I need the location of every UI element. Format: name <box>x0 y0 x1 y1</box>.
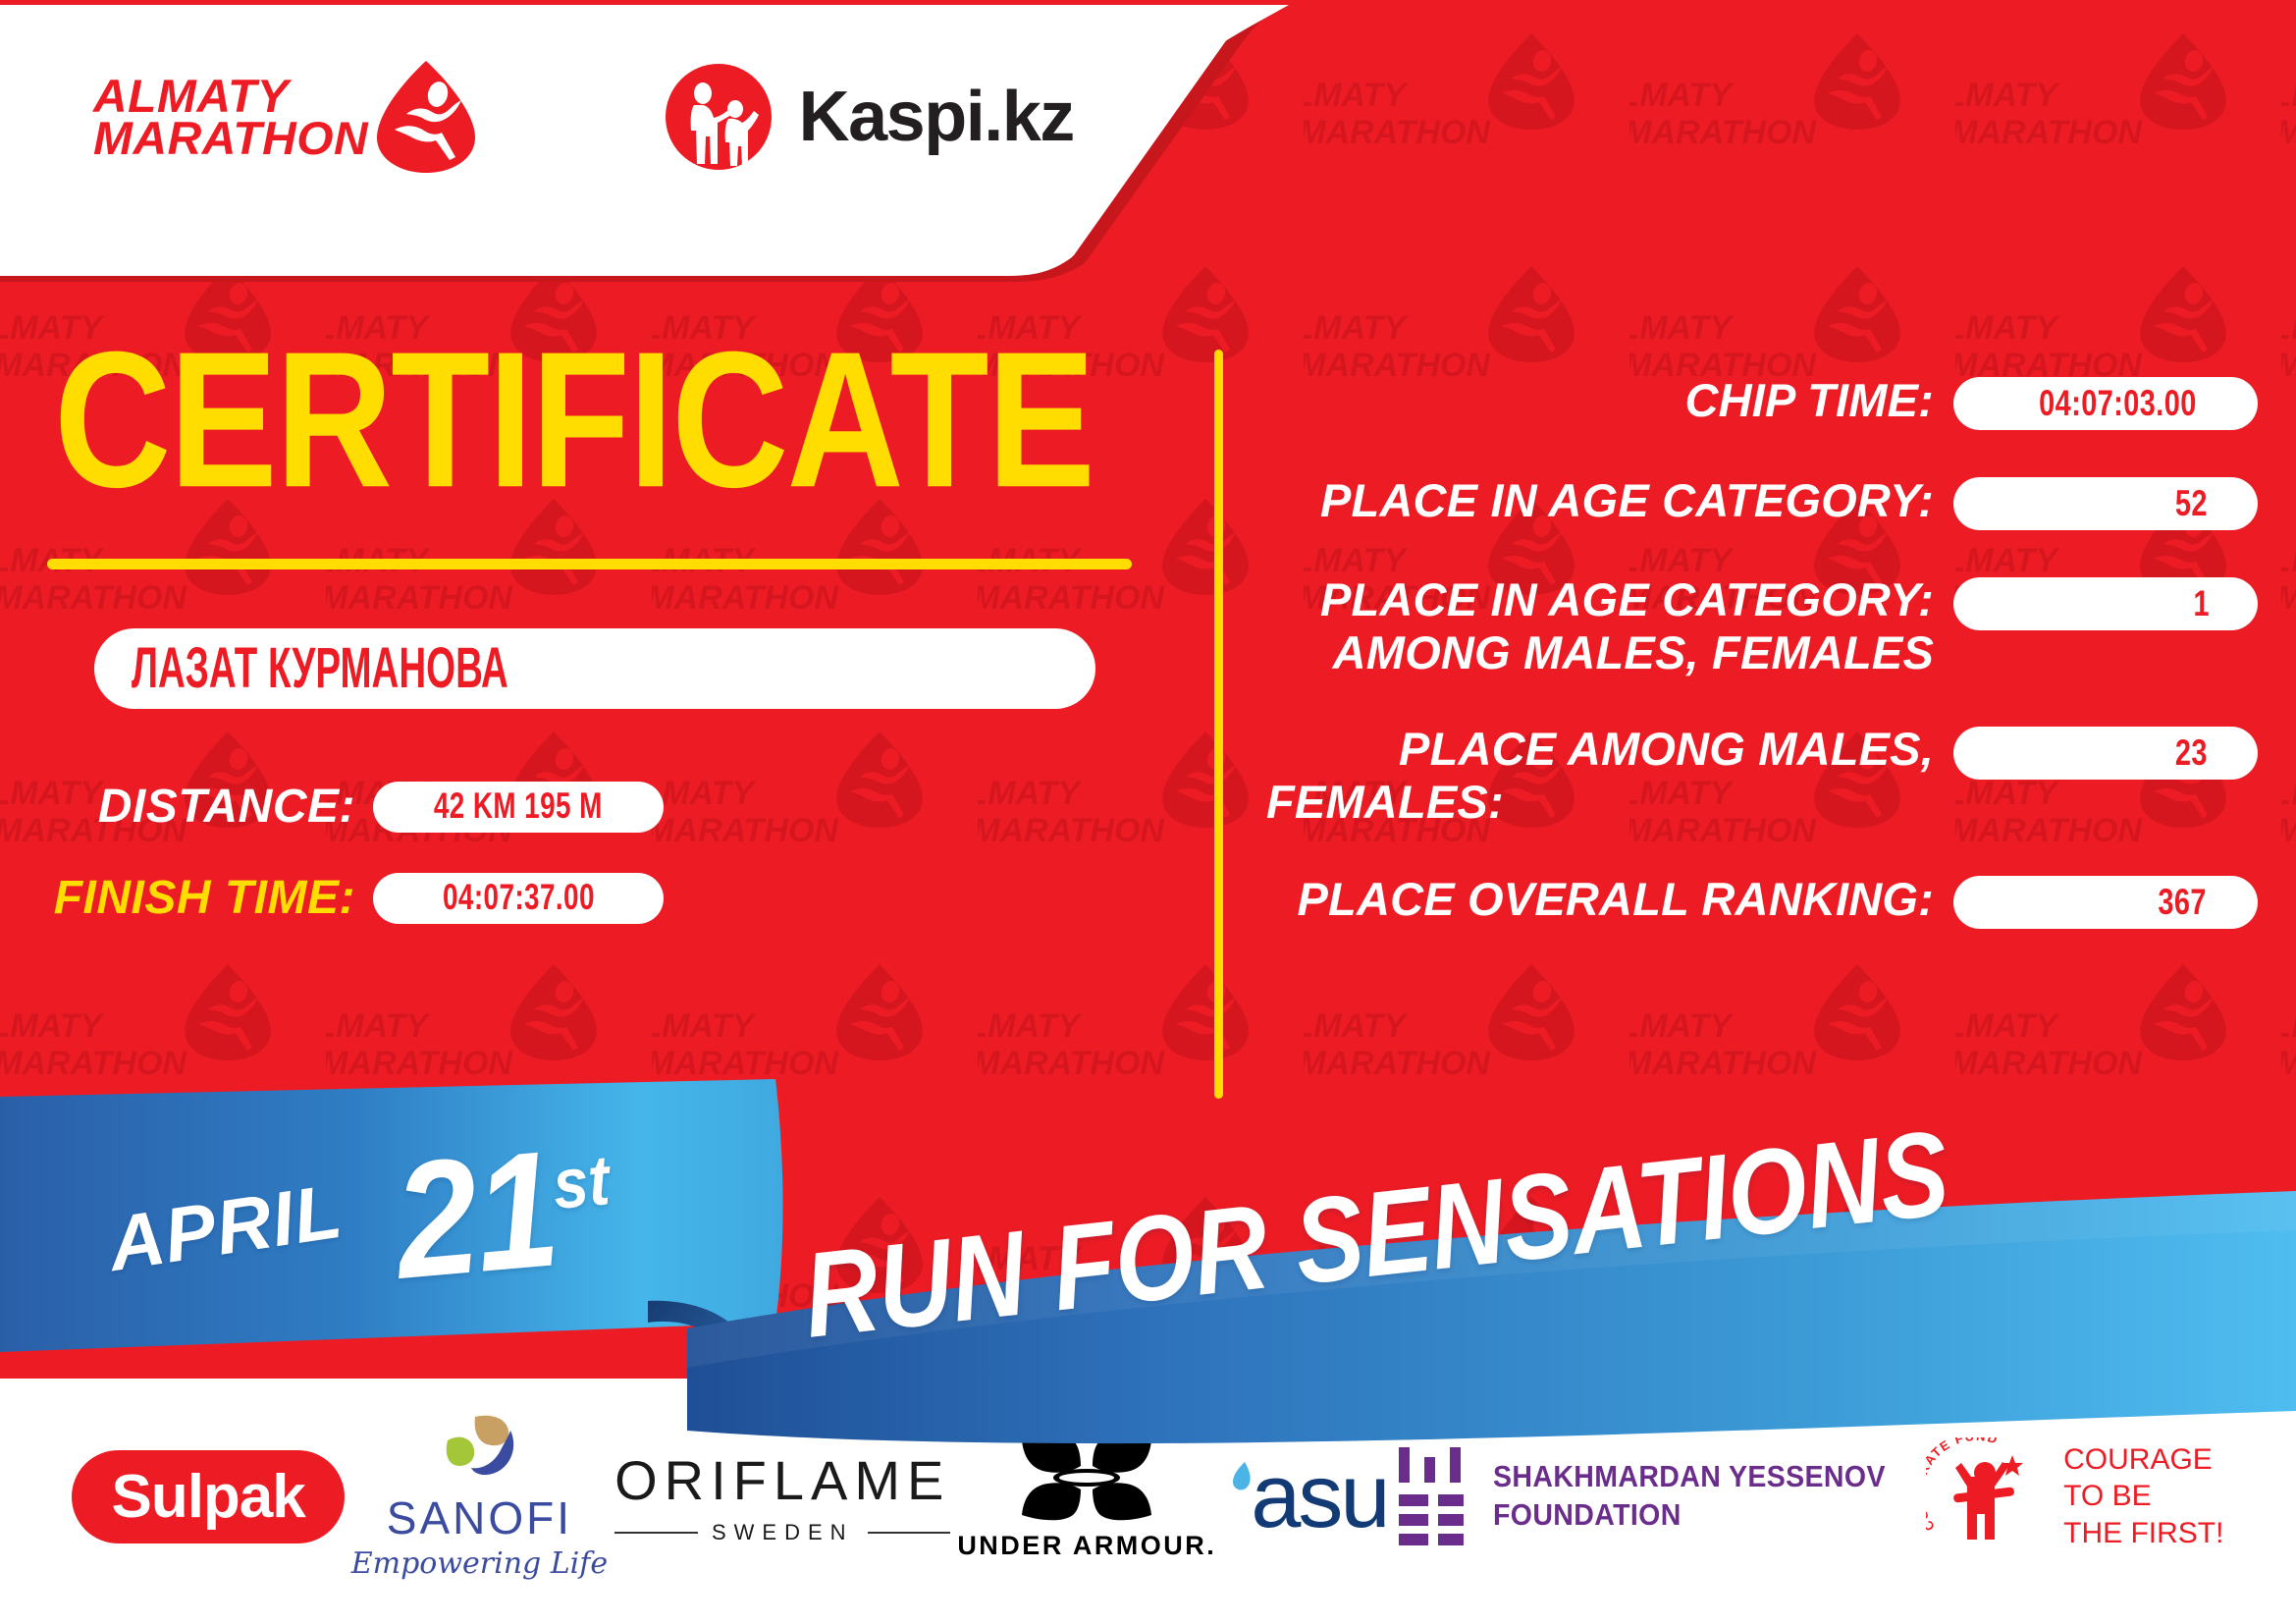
result-label: PLACE IN AGE CATEGORY: <box>1266 473 1953 527</box>
yessenov-line2: FOUNDATION <box>1493 1496 1886 1535</box>
result-label-line1: PLACE IN AGE CATEGORY: <box>1266 573 1934 626</box>
ribbon-day-suffix: st <box>550 1140 613 1223</box>
result-label-line1: CHIP TIME: <box>1266 373 1934 427</box>
ribbon-day: 21st <box>388 1109 619 1317</box>
distance-value-pill: 42 KM 195 M <box>373 782 664 833</box>
finish-time-value: 04:07:37.00 <box>443 877 595 919</box>
result-label-line2: FEMALES: <box>1266 776 1934 829</box>
result-value: 1 <box>2193 583 2210 625</box>
result-value-pill: 52 <box>1953 477 2258 530</box>
result-label-line1: PLACE AMONG MALES, <box>1266 723 1934 776</box>
result-label-line1: PLACE OVERALL RANKING: <box>1266 872 1934 926</box>
rule-right <box>868 1532 951 1534</box>
finish-time-label: FINISH TIME: <box>0 871 355 925</box>
almaty-word: ALMATY <box>93 75 368 117</box>
result-row-place-among-gender: PLACE AMONG MALES, FEMALES: 23 <box>1266 723 2258 829</box>
courage-line2: TO BE <box>2063 1478 2223 1515</box>
rule-left <box>614 1532 698 1534</box>
kaspi-people-icon <box>664 62 774 172</box>
runner-drop-icon <box>375 59 477 175</box>
distance-label: DISTANCE: <box>0 780 355 834</box>
left-column: CERTIFICATE ЛАЗАТ КУРМАНОВА DISTANCE: 42… <box>0 324 1178 925</box>
athlete-name-field: ЛАЗАТ КУРМАНОВА <box>94 628 1095 709</box>
kaspi-wordmark: Kaspi.kz <box>799 77 1074 157</box>
finish-time-value-pill: 04:07:37.00 <box>373 873 664 924</box>
header-top-rule <box>0 0 1306 5</box>
courage-line3: THE FIRST! <box>2063 1515 2223 1552</box>
almaty-marathon-logo: ALMATY MARATHON <box>93 59 477 175</box>
under-armour-wordmark: UNDER ARMOUR. <box>957 1531 1216 1561</box>
oriflame-subline: SWEDEN <box>614 1520 950 1545</box>
certificate-page: ALMATY MARATHON Kaspi.kz CERTIF <box>0 0 2296 1624</box>
brand-row: ALMATY MARATHON Kaspi.kz <box>93 59 1074 175</box>
result-label: PLACE AMONG MALES, FEMALES: <box>1266 723 1953 829</box>
result-label-line1: PLACE IN AGE CATEGORY: <box>1266 473 1934 527</box>
athlete-name-value: ЛАЗАТ КУРМАНОВА <box>132 635 508 701</box>
result-row-chip-time: CHIP TIME: 04:07:03.00 <box>1266 373 2258 430</box>
result-row-place-overall: PLACE OVERALL RANKING: 367 <box>1266 872 2258 929</box>
result-label: CHIP TIME: <box>1266 373 1953 427</box>
result-label-line2: AMONG MALES, FEMALES <box>1266 626 1934 679</box>
result-row-place-age-category-gender: PLACE IN AGE CATEGORY: AMONG MALES, FEMA… <box>1266 573 2258 679</box>
result-value-pill: 1 <box>1953 577 2258 630</box>
result-value: 23 <box>2175 732 2208 775</box>
result-value: 04:07:03.00 <box>2039 383 2197 425</box>
result-value-pill: 23 <box>1953 727 2258 780</box>
result-label: PLACE IN AGE CATEGORY: AMONG MALES, FEMA… <box>1266 573 1953 679</box>
result-value: 52 <box>2175 483 2208 525</box>
kaspi-logo: Kaspi.kz <box>664 62 1074 172</box>
result-label: PLACE OVERALL RANKING: <box>1266 872 1953 926</box>
title-underline <box>47 559 1132 569</box>
result-row-place-age-category: PLACE IN AGE CATEGORY: 52 <box>1266 473 2258 530</box>
page-title: CERTIFICATE <box>54 324 1167 517</box>
results-column: CHIP TIME: 04:07:03.00 PLACE IN AGE CATE… <box>1266 373 2258 972</box>
distance-row: DISTANCE: 42 KM 195 M <box>0 780 1178 834</box>
distance-value: 42 KM 195 M <box>434 785 603 828</box>
ribbon-day-number: 21 <box>388 1115 563 1314</box>
sanofi-wordmark: SANOFI <box>387 1491 572 1544</box>
finish-time-row: FINISH TIME: 04:07:37.00 <box>0 871 1178 925</box>
marathon-word: MARATHON <box>93 117 368 159</box>
result-value-pill: 04:07:03.00 <box>1953 377 2258 430</box>
result-value: 367 <box>2158 882 2206 924</box>
almaty-marathon-wordmark: ALMATY MARATHON <box>93 75 363 159</box>
result-value-pill: 367 <box>1953 876 2258 929</box>
column-divider <box>1214 350 1223 1099</box>
sanofi-tagline: Empowering Life <box>351 1546 608 1581</box>
oriflame-sweden-label: SWEDEN <box>712 1520 854 1545</box>
